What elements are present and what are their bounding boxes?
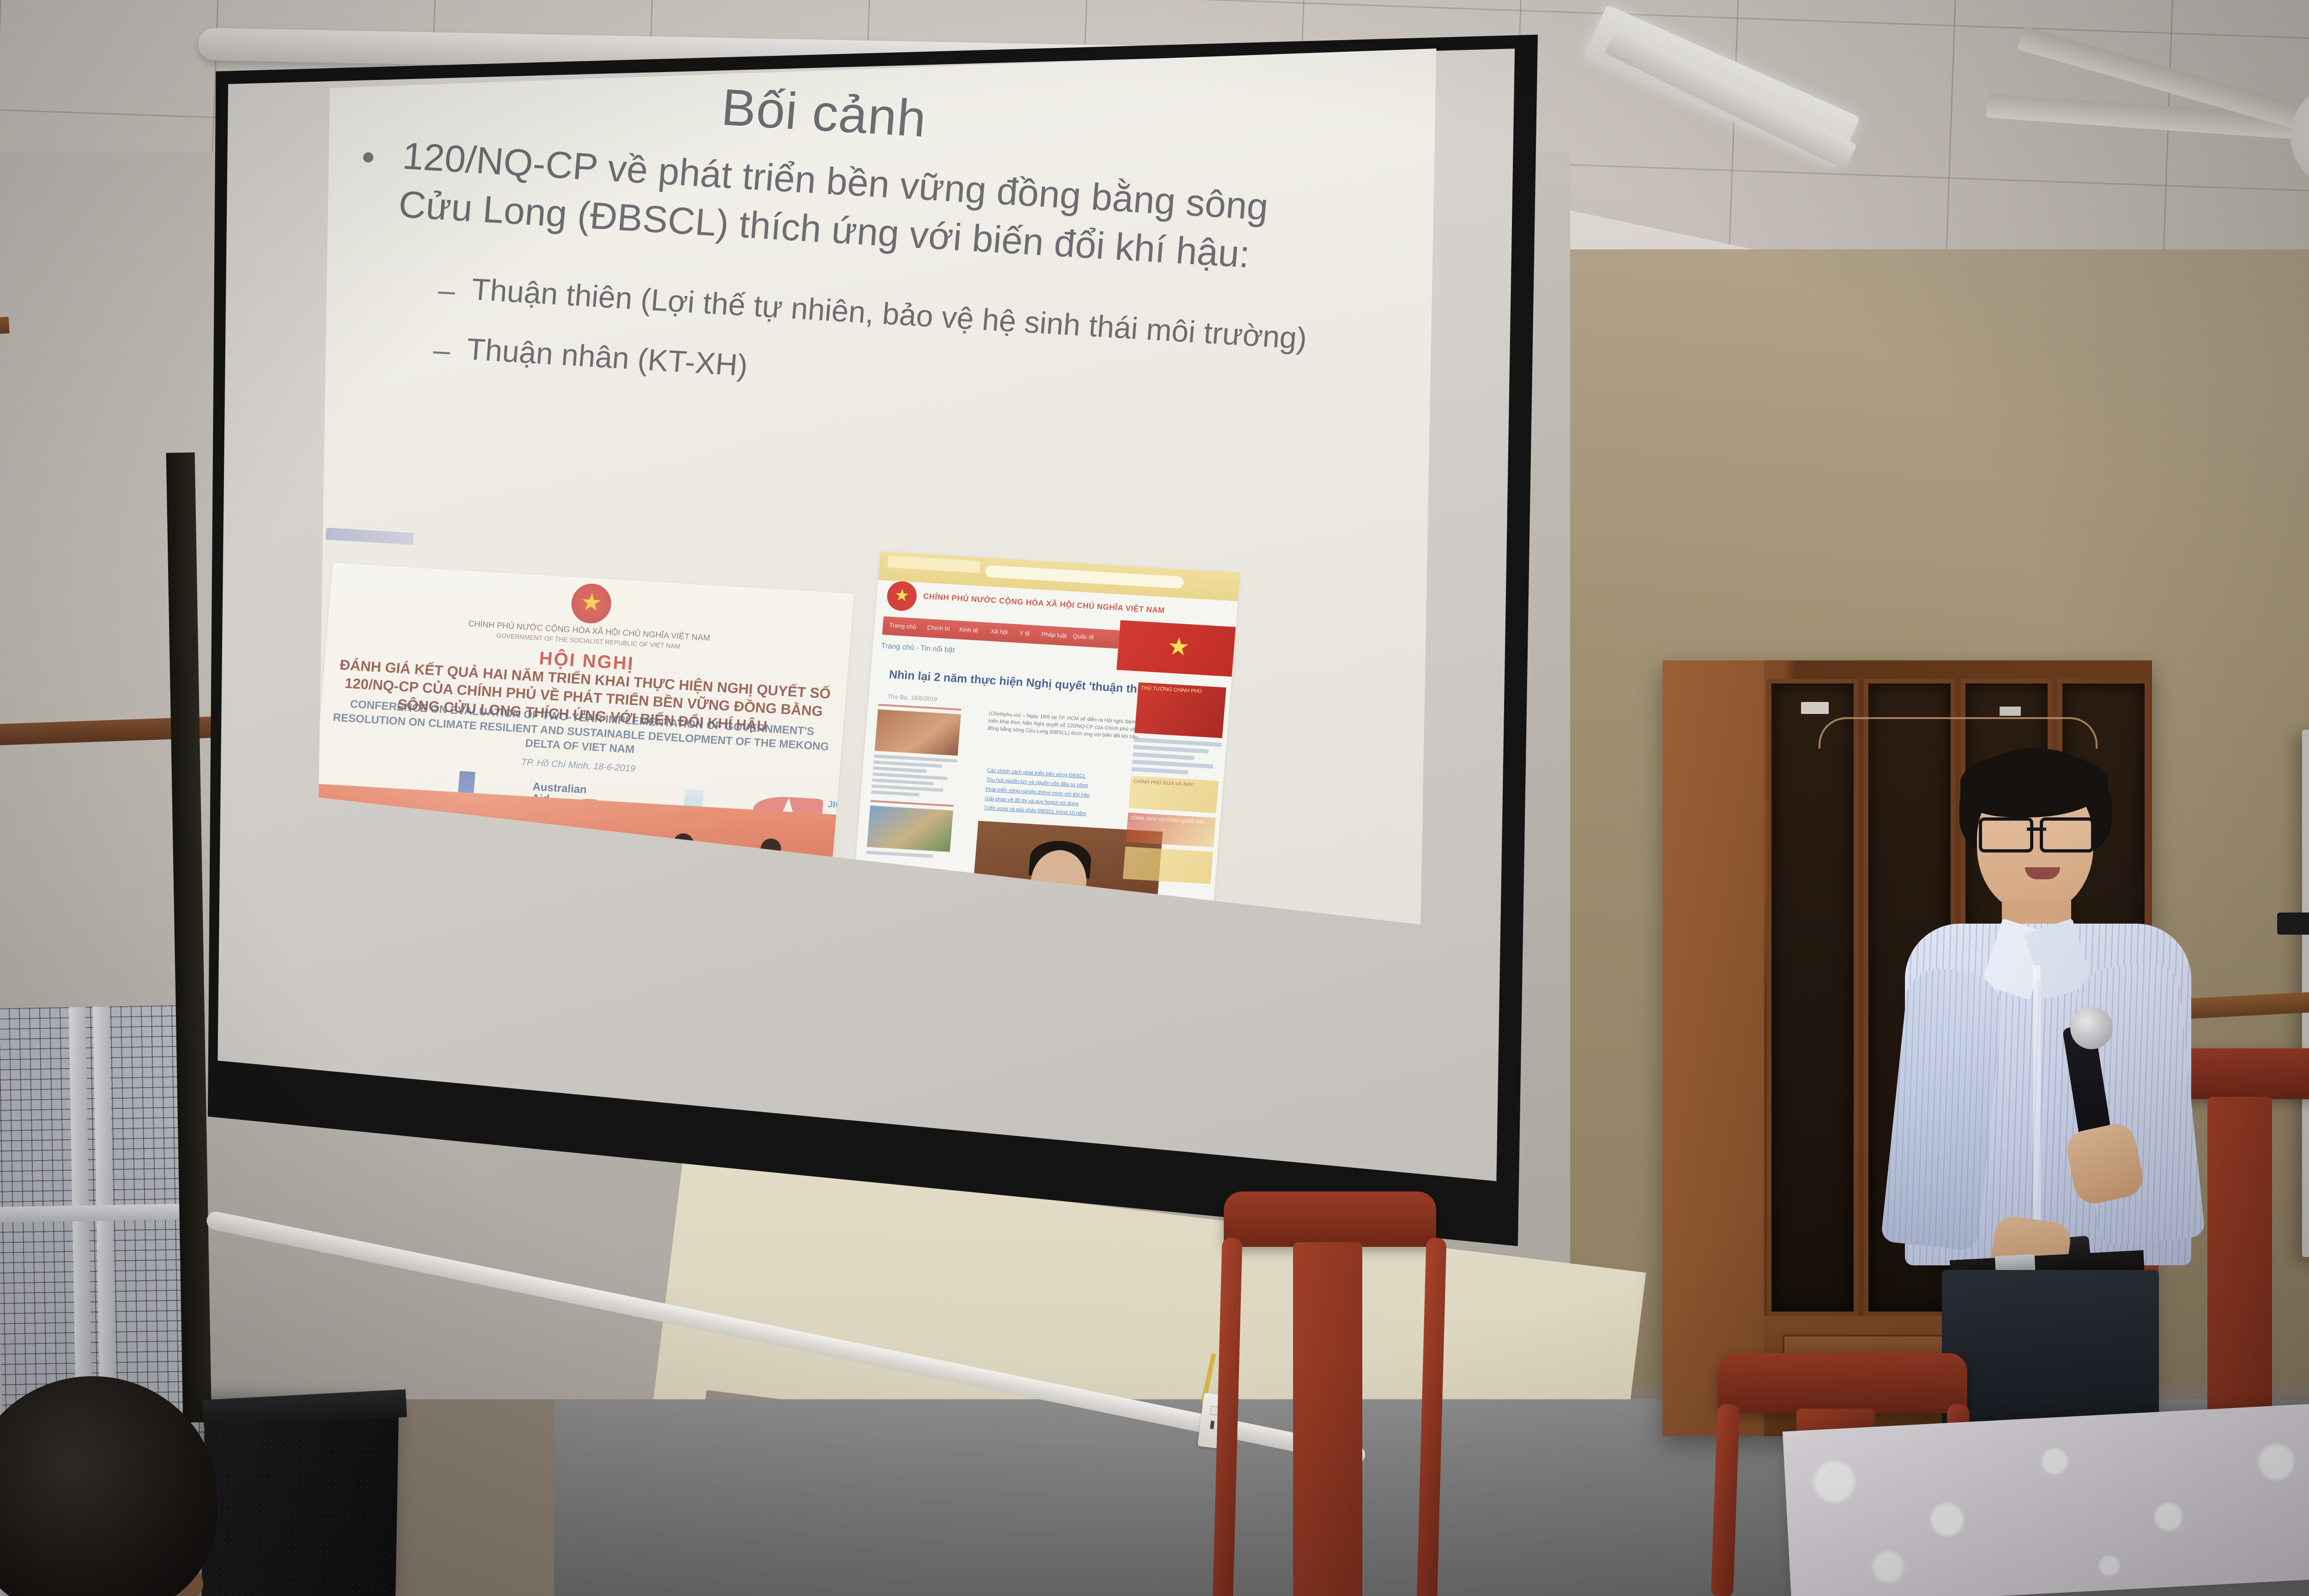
sub-bullet-dash: – xyxy=(432,332,452,368)
presenter xyxy=(1886,748,2200,1441)
article-byline: Thứ Ba, 18/6/2019 xyxy=(887,693,937,702)
nav-item[interactable]: Quốc tế xyxy=(1073,633,1094,641)
slide-title: Bối cảnh xyxy=(719,77,929,149)
shirt-placket xyxy=(2033,965,2041,1251)
vietnam-emblem-icon: ★ xyxy=(570,582,613,624)
cabinet-door[interactable] xyxy=(1767,679,1858,1316)
speaker-grille xyxy=(213,1430,392,1596)
thumbnail-image xyxy=(867,805,953,852)
room-photo-scene: Bối cảnh 120/NQ-CP về phát triển bền vữn… xyxy=(0,0,2309,1596)
breadcrumb: Trang chủ - Tin nổi bật xyxy=(881,642,955,654)
slide-footer-note xyxy=(326,528,414,545)
cabinet-sticker-label xyxy=(1801,702,1829,714)
nav-item[interactable]: Pháp luật xyxy=(1041,631,1067,639)
nav-item[interactable]: Xã hội xyxy=(991,628,1008,635)
cabinet-side-panel xyxy=(1662,660,1764,1436)
nav-item[interactable]: Kinh tế xyxy=(959,626,979,634)
slide-sub-bullet-2: Thuận nhân (KT-XH) xyxy=(465,331,749,383)
sidebar-banner-history[interactable]: CHÍNH PHỦ XƯA VÀ NAY xyxy=(1129,776,1219,813)
wooden-chair[interactable] xyxy=(1205,1191,1464,1596)
bullet-marker xyxy=(363,152,374,163)
sub-bullet-dash: – xyxy=(437,272,457,308)
eyeglasses-icon xyxy=(1979,817,2094,846)
site-emblem-icon: ★ xyxy=(886,580,918,612)
table-with-lace-cloth xyxy=(1783,1399,2309,1596)
vietnam-flag-graphic: ★ xyxy=(1117,620,1236,677)
jica-logo-label: JICA xyxy=(827,799,849,811)
nav-item[interactable]: Chính tri xyxy=(927,624,950,632)
thumbnail-image xyxy=(875,709,961,756)
whiteboard-clip[interactable] xyxy=(2277,913,2309,935)
cabinet-sticker-label xyxy=(2000,707,2021,716)
slide-bullet-main: 120/NQ-CP về phát triển bền vững đồng bằ… xyxy=(397,132,1308,282)
sidebar-banner-pm[interactable]: THỦ TƯỚNG CHÍNH PHỦ xyxy=(1135,682,1227,738)
site-title: CHÍNH PHỦ NƯỚC CỘNG HÒA XÃ HỘI CHỦ NGHĨA… xyxy=(923,592,1165,616)
loudspeaker xyxy=(201,1402,399,1596)
website-left-column xyxy=(866,704,961,862)
nav-item[interactable]: Y tế xyxy=(1019,629,1030,637)
sidebar-banner-services[interactable]: CỔNG DỊCH VỤ CÔNG QUỐC GIA xyxy=(1126,813,1216,847)
website-right-sidebar: THỦ TƯỚNG CHÍNH PHỦ CHÍNH PHỦ XƯA VÀ NAY… xyxy=(1123,682,1227,889)
nav-item[interactable]: Trang chủ xyxy=(889,622,916,630)
